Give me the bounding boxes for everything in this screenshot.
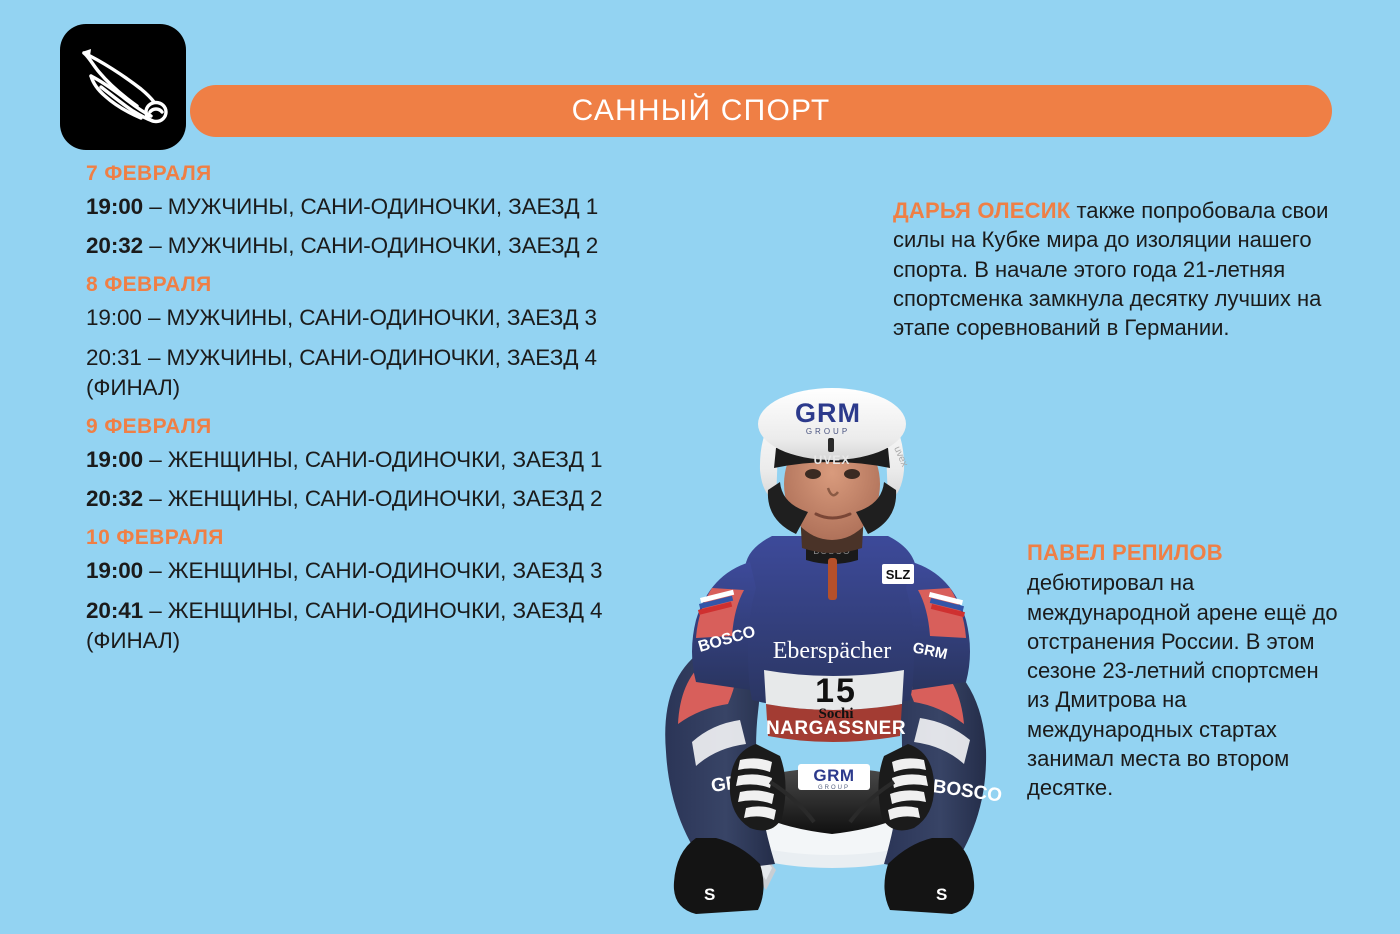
- athlete-note-olesik: ДАРЬЯ ОЛЕСИК также попробовала свои силы…: [893, 196, 1363, 342]
- schedule-date-heading: 10 ФЕВРАЛЯ: [86, 526, 646, 549]
- svg-text:NARGASSNER: NARGASSNER: [766, 718, 906, 739]
- event-description: – ЖЕНЩИНЫ, САНИ-ОДИНОЧКИ, ЗАЕЗД 3: [143, 558, 602, 583]
- athlete-photo: GRM GROUP GRM BOSCO: [600, 352, 1060, 932]
- event-description: – МУЖЧИНЫ, САНИ-ОДИНОЧКИ, ЗАЕЗД 3: [142, 305, 597, 330]
- svg-text:GRM: GRM: [795, 398, 861, 428]
- schedule-group: 9 ФЕВРАЛЯ 19:00 – ЖЕНЩИНЫ, САНИ-ОДИНОЧКИ…: [86, 415, 646, 514]
- schedule-event-row: 20:32 – МУЖЧИНЫ, САНИ-ОДИНОЧКИ, ЗАЕЗД 2: [86, 231, 646, 261]
- schedule-date-heading: 8 ФЕВРАЛЯ: [86, 273, 646, 296]
- svg-text:SLZ: SLZ: [886, 567, 911, 582]
- event-description: – ЖЕНЩИНЫ, САНИ-ОДИНОЧКИ, ЗАЕЗД 1: [143, 447, 602, 472]
- schedule-date-heading: 7 ФЕВРАЛЯ: [86, 162, 646, 185]
- svg-text:S: S: [936, 885, 947, 904]
- svg-text:S: S: [704, 885, 715, 904]
- event-time: 20:32: [86, 233, 143, 258]
- event-description: – МУЖЧИНЫ, САНИ-ОДИНОЧКИ, ЗАЕЗД 1: [143, 194, 598, 219]
- event-time: 19:00: [86, 194, 143, 219]
- svg-text:GRM: GRM: [813, 766, 854, 785]
- svg-text:GROUP: GROUP: [818, 785, 850, 791]
- event-time: 19:00: [86, 447, 143, 472]
- event-description: – МУЖЧИНЫ, САНИ-ОДИНОЧКИ, ЗАЕЗД 2: [143, 233, 598, 258]
- schedule-event-row: 19:00 – МУЖЧИНЫ, САНИ-ОДИНОЧКИ, ЗАЕЗД 3: [86, 303, 646, 333]
- event-description: – ЖЕНЩИНЫ, САНИ-ОДИНОЧКИ, ЗАЕЗД 4 (ФИНАЛ…: [86, 598, 602, 653]
- schedule-event-row: 19:00 – ЖЕНЩИНЫ, САНИ-ОДИНОЧКИ, ЗАЕЗД 3: [86, 556, 646, 586]
- luge-sled-athlete-icon: [60, 24, 186, 150]
- schedule-event-row: 19:00 – МУЖЧИНЫ, САНИ-ОДИНОЧКИ, ЗАЕЗД 1: [86, 192, 646, 222]
- svg-text:Eberspächer: Eberspächer: [773, 638, 892, 664]
- schedule-date-heading: 9 ФЕВРАЛЯ: [86, 415, 646, 438]
- event-time: 20:41: [86, 598, 143, 623]
- event-time: 19:00: [86, 558, 143, 583]
- event-description: – ЖЕНЩИНЫ, САНИ-ОДИНОЧКИ, ЗАЕЗД 2: [143, 486, 602, 511]
- schedule-group: 8 ФЕВРАЛЯ 19:00 – МУЖЧИНЫ, САНИ-ОДИНОЧКИ…: [86, 273, 646, 403]
- header-bar: САННЫЙ СПОРТ: [190, 85, 1332, 137]
- athlete-note-repilov: ПАВЕЛ РЕПИЛОВдебютировал на международно…: [1027, 538, 1347, 802]
- event-time: 20:31: [86, 345, 142, 370]
- schedule-event-row: 20:41 – ЖЕНЩИНЫ, САНИ-ОДИНОЧКИ, ЗАЕЗД 4 …: [86, 596, 646, 656]
- athlete-name-repilov: ПАВЕЛ РЕПИЛОВ: [1027, 538, 1347, 567]
- schedule-list: 7 ФЕВРАЛЯ 19:00 – МУЖЧИНЫ, САНИ-ОДИНОЧКИ…: [86, 162, 646, 665]
- svg-text:UVEX: UVEX: [814, 453, 851, 467]
- svg-text:15: 15: [815, 672, 857, 710]
- schedule-event-row: 20:31 – МУЖЧИНЫ, САНИ-ОДИНОЧКИ, ЗАЕЗД 4 …: [86, 343, 646, 403]
- page-title: САННЫЙ СПОРТ: [572, 94, 831, 128]
- event-description: – МУЖЧИНЫ, САНИ-ОДИНОЧКИ, ЗАЕЗД 4 (ФИНАЛ…: [86, 345, 597, 400]
- infographic-page: САННЫЙ СПОРТ 7 ФЕВРАЛЯ 19:00 – МУЖЧИНЫ, …: [0, 0, 1400, 934]
- schedule-group: 10 ФЕВРАЛЯ 19:00 – ЖЕНЩИНЫ, САНИ-ОДИНОЧК…: [86, 526, 646, 656]
- event-time: 20:32: [86, 486, 143, 511]
- schedule-group: 7 ФЕВРАЛЯ 19:00 – МУЖЧИНЫ, САНИ-ОДИНОЧКИ…: [86, 162, 646, 261]
- athlete-bio-repilov: дебютировал на международной арене ещё д…: [1027, 570, 1338, 800]
- event-time: 19:00: [86, 305, 142, 330]
- svg-text:GROUP: GROUP: [806, 427, 850, 436]
- schedule-event-row: 19:00 – ЖЕНЩИНЫ, САНИ-ОДИНОЧКИ, ЗАЕЗД 1: [86, 445, 646, 475]
- schedule-event-row: 20:32 – ЖЕНЩИНЫ, САНИ-ОДИНОЧКИ, ЗАЕЗД 2: [86, 484, 646, 514]
- athlete-name-olesik: ДАРЬЯ ОЛЕСИК: [893, 198, 1070, 223]
